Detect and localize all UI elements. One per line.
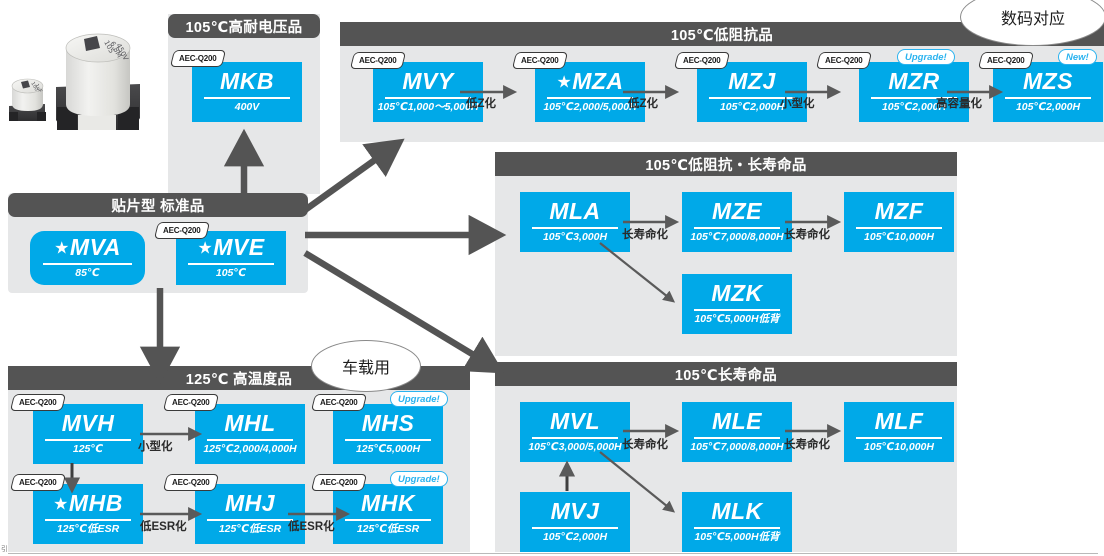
divider: [43, 263, 133, 265]
product-box-mhl[interactable]: MHL 125℃2,000/4,000H: [195, 404, 305, 464]
divider: [385, 97, 471, 99]
product-spec-mzk: 105℃5,000H低背: [690, 314, 783, 326]
product-spec-mve: 105℃: [212, 268, 250, 280]
product-box-mzf[interactable]: MZF 105℃10,000H: [844, 192, 954, 252]
divider: [856, 227, 942, 229]
product-code-mvh: MVH: [58, 412, 119, 435]
product-box-mkb[interactable]: MKB 400V: [192, 62, 302, 122]
product-code-mzs: MZS: [1019, 70, 1077, 93]
product-box-mhs[interactable]: MHS 125℃5,000H: [333, 404, 443, 464]
capacitor-product-photo: 105 6.8M 450V 100 1uF: [0, 12, 168, 144]
arrow-label-low-esr-2: 低ESR化: [288, 518, 335, 534]
callout-automotive-label: 车载用: [342, 354, 390, 378]
product-code-mle: MLE: [708, 410, 766, 433]
product-box-mzj[interactable]: MZJ 105℃2,000H: [697, 62, 807, 122]
divider: [694, 309, 780, 311]
product-code-mhk: MHK: [357, 492, 419, 515]
product-code-mhl: MHL: [220, 412, 279, 435]
upgrade-badge-mhs: Upgrade!: [390, 391, 448, 407]
panel-long-life-title: 105℃长寿命品: [495, 362, 957, 386]
aec-q200-badge-mhk: AEC-Q200: [311, 474, 367, 491]
product-spec-mhl: 125℃2,000/4,000H: [199, 444, 300, 456]
product-box-mvl[interactable]: MVL 105℃3,000/5,000H: [520, 402, 630, 462]
divider: [345, 439, 431, 441]
divider: [207, 439, 293, 441]
bottom-divider: [8, 553, 1098, 554]
aec-q200-badge-mvh: AEC-Q200: [10, 394, 66, 411]
product-spec-mhs: 125℃5,000H: [352, 444, 424, 456]
product-code-mkb: MKB: [216, 70, 278, 93]
page-artifact: 引: [1, 544, 8, 554]
arrow-label-low-esr-1: 低ESR化: [140, 518, 187, 534]
product-box-mlk[interactable]: MLK 105℃5,000H低背: [682, 492, 792, 552]
product-box-mvh[interactable]: MVH 125℃: [33, 404, 143, 464]
product-code-mva: ★MVA: [50, 236, 125, 259]
aec-q200-badge-mve: AEC-Q200: [154, 222, 210, 239]
arrow-label-long-life-4: 长寿命化: [784, 436, 830, 452]
product-spec-mza: 105℃2,000/5,000H: [539, 102, 640, 114]
new-badge-mzs: New!: [1058, 49, 1097, 65]
divider: [532, 227, 618, 229]
product-box-mhk[interactable]: MHK 125℃低ESR: [333, 484, 443, 544]
product-code-mve: ★MVE: [193, 236, 268, 259]
aec-q200-badge-mzr: AEC-Q200: [816, 52, 872, 69]
product-code-mhb: ★MHB: [49, 492, 127, 515]
divider: [547, 97, 633, 99]
aec-q200-badge-mkb: AEC-Q200: [170, 50, 226, 67]
product-spec-mzs: 105℃2,000H: [1012, 102, 1084, 114]
upgrade-badge-mzr: Upgrade!: [897, 49, 955, 65]
product-box-mvj[interactable]: MVJ 105℃2,000H: [520, 492, 630, 552]
star-marker: ★: [53, 495, 69, 514]
product-code-mlk: MLK: [707, 500, 766, 523]
product-spec-mva: 85℃: [71, 268, 103, 280]
arrow-label-long-life-1: 长寿命化: [622, 226, 668, 242]
product-box-mze[interactable]: MZE 105℃7,000/8,000H: [682, 192, 792, 252]
panel-standard: 贴片型 标准品 ★MVA 85℃ ★MVE 105℃ AEC-Q200: [8, 193, 308, 293]
aec-q200-badge-mhl: AEC-Q200: [163, 394, 219, 411]
product-code-mzj: MZJ: [724, 70, 780, 93]
product-spec-mhj: 125℃低ESR: [215, 524, 285, 536]
product-code-mvl: MVL: [546, 410, 604, 433]
panel-high-voltage: 105℃高耐电压品 MKB 400V AEC-Q200: [168, 14, 320, 194]
product-box-mva[interactable]: ★MVA 85℃: [30, 231, 145, 285]
product-spec-mkb: 400V: [231, 102, 264, 114]
aec-q200-badge-mza: AEC-Q200: [512, 52, 568, 69]
product-code-mza: ★MZA: [552, 70, 627, 93]
product-box-mzr[interactable]: MZR 105℃2,000H: [859, 62, 969, 122]
product-code-mlf: MLF: [871, 410, 928, 433]
product-code-mzk: MZK: [707, 282, 766, 305]
divider: [532, 437, 618, 439]
product-box-mhb[interactable]: ★MHB 125℃低ESR: [33, 484, 143, 544]
product-code-mla: MLA: [545, 200, 604, 223]
divider: [694, 227, 780, 229]
product-box-mza[interactable]: ★MZA 105℃2,000/5,000H: [535, 62, 645, 122]
product-spec-mle: 105℃7,000/8,000H: [686, 442, 787, 454]
panel-low-impedance-long-life-title: 105℃低阻抗・长寿命品: [495, 152, 957, 176]
product-spec-mla: 105℃3,000H: [539, 232, 611, 244]
arrow-label-miniaturization: 小型化: [780, 95, 815, 111]
star-marker: ★: [556, 73, 572, 92]
star-marker: ★: [54, 239, 70, 258]
panel-high-voltage-title: 105℃高耐电压品: [168, 14, 320, 38]
panel-high-temp: 125℃ 高温度品 MVH 125℃ AEC-Q200 MHL 125℃2,00…: [8, 366, 470, 552]
product-code-mvy: MVY: [398, 70, 457, 93]
product-code-mzr: MZR: [884, 70, 943, 93]
divider: [694, 437, 780, 439]
callout-automotive: 车载用: [311, 340, 421, 392]
divider: [1005, 97, 1091, 99]
product-spec-mlf: 105℃10,000H: [860, 442, 938, 454]
product-spec-mhk: 125℃低ESR: [353, 524, 423, 536]
product-box-mle[interactable]: MLE 105℃7,000/8,000H: [682, 402, 792, 462]
divider: [345, 519, 431, 521]
aec-q200-badge-mzs: AEC-Q200: [978, 52, 1034, 69]
panel-low-impedance-long-life: 105℃低阻抗・长寿命品 MLA 105℃3,000H MZE 105℃7,00…: [495, 152, 957, 356]
divider: [694, 527, 780, 529]
product-code-mhs: MHS: [358, 412, 419, 435]
arrow-label-low-z-1: 低Z化: [466, 95, 496, 111]
product-spec-mhb: 125℃低ESR: [53, 524, 123, 536]
aec-q200-badge-mhj: AEC-Q200: [163, 474, 219, 491]
product-box-mzk[interactable]: MZK 105℃5,000H低背: [682, 274, 792, 334]
upgrade-badge-mhk: Upgrade!: [390, 471, 448, 487]
product-spec-mze: 105℃7,000/8,000H: [686, 232, 787, 244]
aec-q200-badge-mzj: AEC-Q200: [674, 52, 730, 69]
arrow-label-long-life-3: 长寿命化: [622, 436, 668, 452]
product-code-mzf: MZF: [871, 200, 928, 223]
product-code-mhj: MHJ: [221, 492, 279, 515]
arrow-label-high-capacitance: 高容量化: [936, 95, 982, 111]
product-spec-mvl: 105℃3,000/5,000H: [524, 442, 625, 454]
product-code-mvj: MVJ: [547, 500, 604, 523]
divider: [45, 439, 131, 441]
aec-q200-badge-mhb: AEC-Q200: [10, 474, 66, 491]
divider: [532, 527, 618, 529]
product-box-mvy[interactable]: MVY 105℃1,000〜5,000H: [373, 62, 483, 122]
product-spec-mvh: 125℃: [69, 444, 107, 456]
product-box-mve[interactable]: ★MVE 105℃: [176, 231, 286, 285]
divider: [188, 263, 274, 265]
aec-q200-badge-mhs: AEC-Q200: [311, 394, 367, 411]
arrow-label-long-life-2: 长寿命化: [784, 226, 830, 242]
product-box-mhj[interactable]: MHJ 125℃低ESR: [195, 484, 305, 544]
panel-long-life: 105℃长寿命品 MVL 105℃3,000/5,000H MLE 105℃7,…: [495, 362, 957, 552]
aec-q200-badge-mvy: AEC-Q200: [350, 52, 406, 69]
arrow-label-miniaturization-ht: 小型化: [138, 438, 173, 454]
product-code-mze: MZE: [708, 200, 766, 223]
callout-digital-label: 数码对应: [1001, 5, 1065, 29]
product-spec-mvj: 105℃2,000H: [539, 532, 611, 544]
arrow-label-low-z-2: 低Z化: [628, 95, 658, 111]
divider: [204, 97, 290, 99]
divider: [45, 519, 131, 521]
product-spec-mzj: 105℃2,000H: [716, 102, 788, 114]
product-spec-mzf: 105℃10,000H: [860, 232, 938, 244]
product-box-mzs[interactable]: MZS 105℃2,000H: [993, 62, 1103, 122]
divider: [207, 519, 293, 521]
panel-standard-title: 贴片型 标准品: [8, 193, 308, 217]
product-spec-mlk: 105℃5,000H低背: [690, 532, 783, 544]
product-box-mla[interactable]: MLA 105℃3,000H: [520, 192, 630, 252]
product-box-mlf[interactable]: MLF 105℃10,000H: [844, 402, 954, 462]
star-marker: ★: [197, 239, 213, 258]
divider: [856, 437, 942, 439]
